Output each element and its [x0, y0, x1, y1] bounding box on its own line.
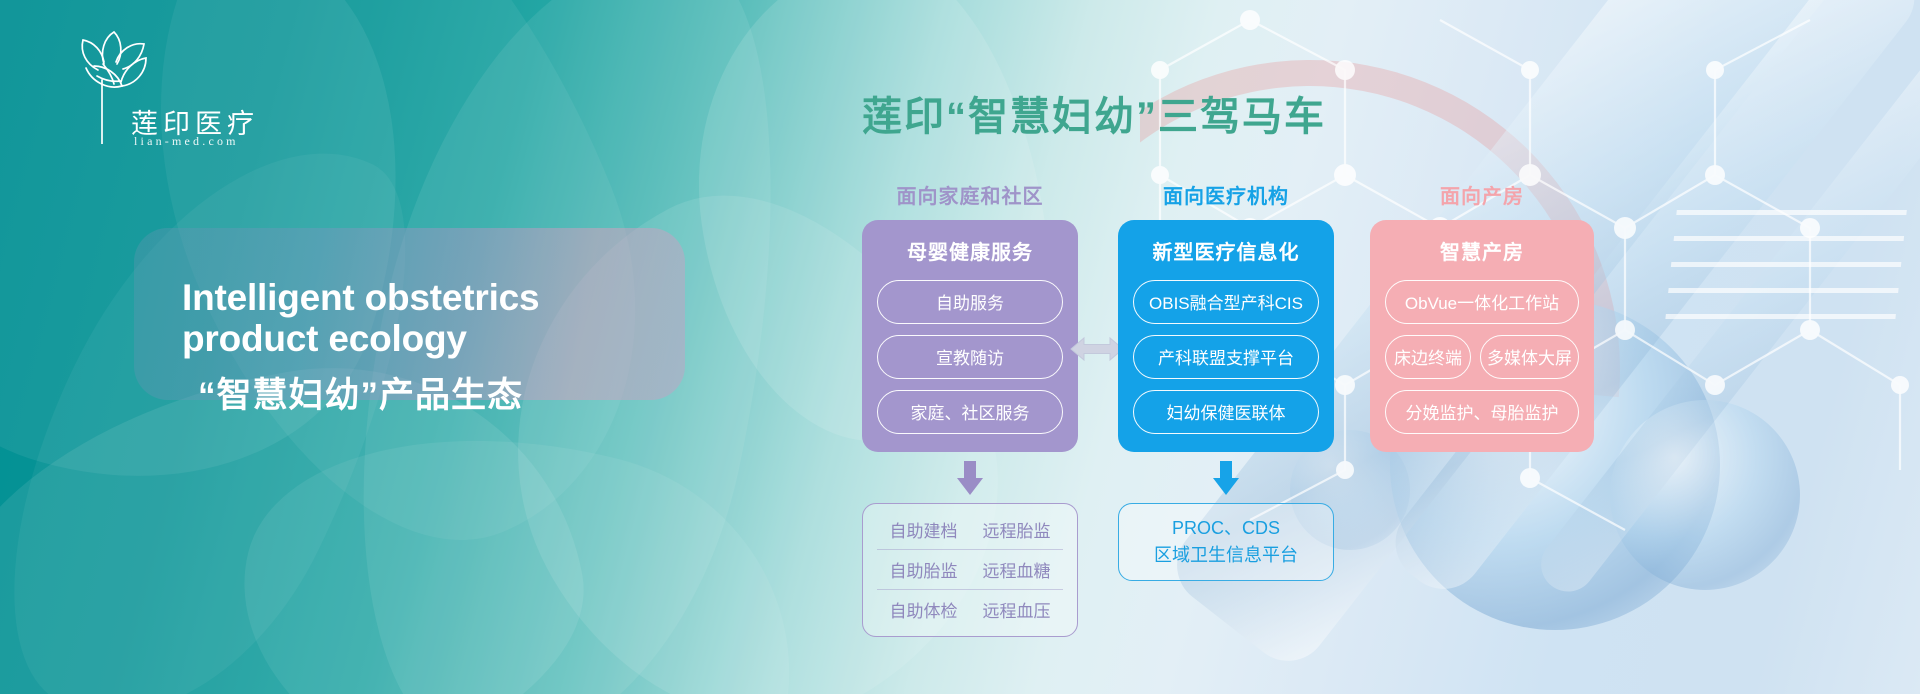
- pill-obvue-workstation[interactable]: ObVue一体化工作站: [1385, 280, 1579, 324]
- pill-bedside-terminal[interactable]: 床边终端: [1385, 335, 1471, 379]
- sub-line-2: 区域卫生信息平台: [1154, 542, 1298, 569]
- table-row: 自助体检 远程血压: [877, 590, 1063, 629]
- double-arrow-horizontal-icon: [1069, 332, 1125, 366]
- hero-text-block: Intelligent obstetrics product ecology “…: [182, 277, 652, 418]
- sub-box-medical-institution: PROC、CDS 区域卫生信息平台: [1118, 503, 1334, 581]
- column-head-medical-institution: 面向医疗机构: [1118, 180, 1334, 209]
- sub-cell: 远程血压: [970, 590, 1063, 629]
- column-medical-institution: 面向医疗机构 新型医疗信息化 OBIS融合型产科CIS 产科联盟支撑平台 妇幼保…: [1118, 180, 1334, 581]
- column-delivery-room: 面向产房 智慧产房 ObVue一体化工作站 床边终端 多媒体大屏 分娩监护、母胎…: [1370, 180, 1594, 452]
- pill-maternal-child-medical-union[interactable]: 妇幼保健医联体: [1133, 390, 1319, 434]
- sub-cell: 自助体检: [877, 590, 970, 629]
- brand-logo: 莲印医疗 lian-med.com: [56, 24, 276, 144]
- brand-url: lian-med.com: [134, 134, 239, 149]
- table-row: 自助胎监 远程血糖: [877, 550, 1063, 590]
- slide-canvas: 莲印医疗 lian-med.com Intelligent obstetrics…: [0, 0, 1920, 694]
- pill-row: 床边终端 多媒体大屏: [1385, 335, 1579, 379]
- column-head-delivery-room: 面向产房: [1370, 180, 1594, 209]
- card-smart-delivery-room[interactable]: 智慧产房 ObVue一体化工作站 床边终端 多媒体大屏 分娩监护、母胎监护: [1370, 220, 1594, 452]
- card-title: 母婴健康服务: [877, 236, 1063, 265]
- sub-cell: 自助建档: [877, 510, 970, 549]
- pill-family-community-service[interactable]: 家庭、社区服务: [877, 390, 1063, 434]
- column-head-family-community: 面向家庭和社区: [862, 180, 1078, 209]
- sub-cell: 远程胎监: [970, 510, 1063, 549]
- card-new-medical-informatization[interactable]: 新型医疗信息化 OBIS融合型产科CIS 产科联盟支撑平台 妇幼保健医联体: [1118, 220, 1334, 452]
- card-title: 智慧产房: [1385, 236, 1579, 265]
- column-family-community: 面向家庭和社区 母婴健康服务 自助服务 宣教随访 家庭、社区服务 自助建档 远程…: [862, 180, 1078, 637]
- sub-line-1: PROC、CDS: [1172, 515, 1280, 542]
- pill-education-followup[interactable]: 宣教随访: [877, 335, 1063, 379]
- hero-line-en-1: Intelligent obstetrics: [182, 277, 652, 318]
- arrow-down-icon: [957, 461, 983, 495]
- pill-self-service[interactable]: 自助服务: [877, 280, 1063, 324]
- sub-cell: 自助胎监: [877, 550, 970, 589]
- card-title: 新型医疗信息化: [1133, 236, 1319, 265]
- sub-cell: 远程血糖: [970, 550, 1063, 589]
- pill-obis-cis[interactable]: OBIS融合型产科CIS: [1133, 280, 1319, 324]
- hero-line-en-2: product ecology: [182, 318, 652, 359]
- page-title: 莲印“智慧妇幼”三驾马车: [862, 84, 1326, 142]
- sub-box-family-community: 自助建档 远程胎监 自助胎监 远程血糖 自助体检 远程血压: [862, 503, 1078, 637]
- pill-multimedia-screen[interactable]: 多媒体大屏: [1480, 335, 1579, 379]
- table-row: 自助建档 远程胎监: [877, 510, 1063, 550]
- hero-line-cn: “智慧妇幼”产品生态: [198, 367, 652, 418]
- arrow-down-icon: [1213, 461, 1239, 495]
- card-maternal-health-service[interactable]: 母婴健康服务 自助服务 宣教随访 家庭、社区服务: [862, 220, 1078, 452]
- pill-obstetric-alliance-platform[interactable]: 产科联盟支撑平台: [1133, 335, 1319, 379]
- pill-labor-fetal-monitoring[interactable]: 分娩监护、母胎监护: [1385, 390, 1579, 434]
